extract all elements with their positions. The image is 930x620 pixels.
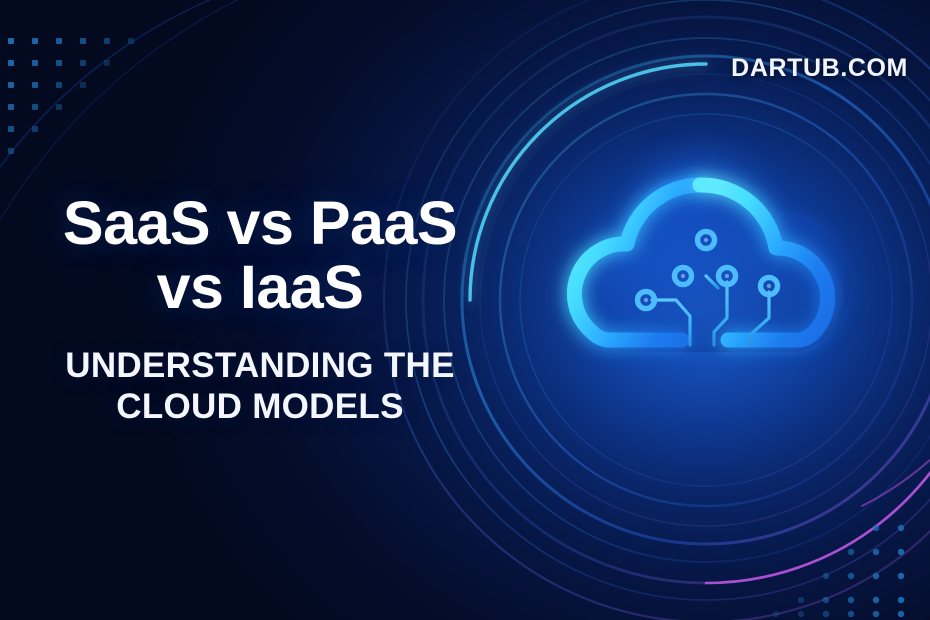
subtitle-line-1: UNDERSTANDING THE [65,346,454,385]
title-line-2: vs IaaS [157,253,364,321]
hero-text-block: SaaS vs PaaS vs IaaS UNDERSTANDING THE C… [0,0,520,620]
page-title: SaaS vs PaaS vs IaaS [49,192,471,319]
brand-watermark: DARTUB.COM [731,54,908,83]
poster-canvas: SaaS vs PaaS vs IaaS UNDERSTANDING THE C… [0,0,930,620]
subtitle-line-2: CLOUD MODELS [116,387,403,426]
page-subtitle: UNDERSTANDING THE CLOUD MODELS [45,345,474,428]
title-line-1: SaaS vs PaaS [63,189,457,257]
